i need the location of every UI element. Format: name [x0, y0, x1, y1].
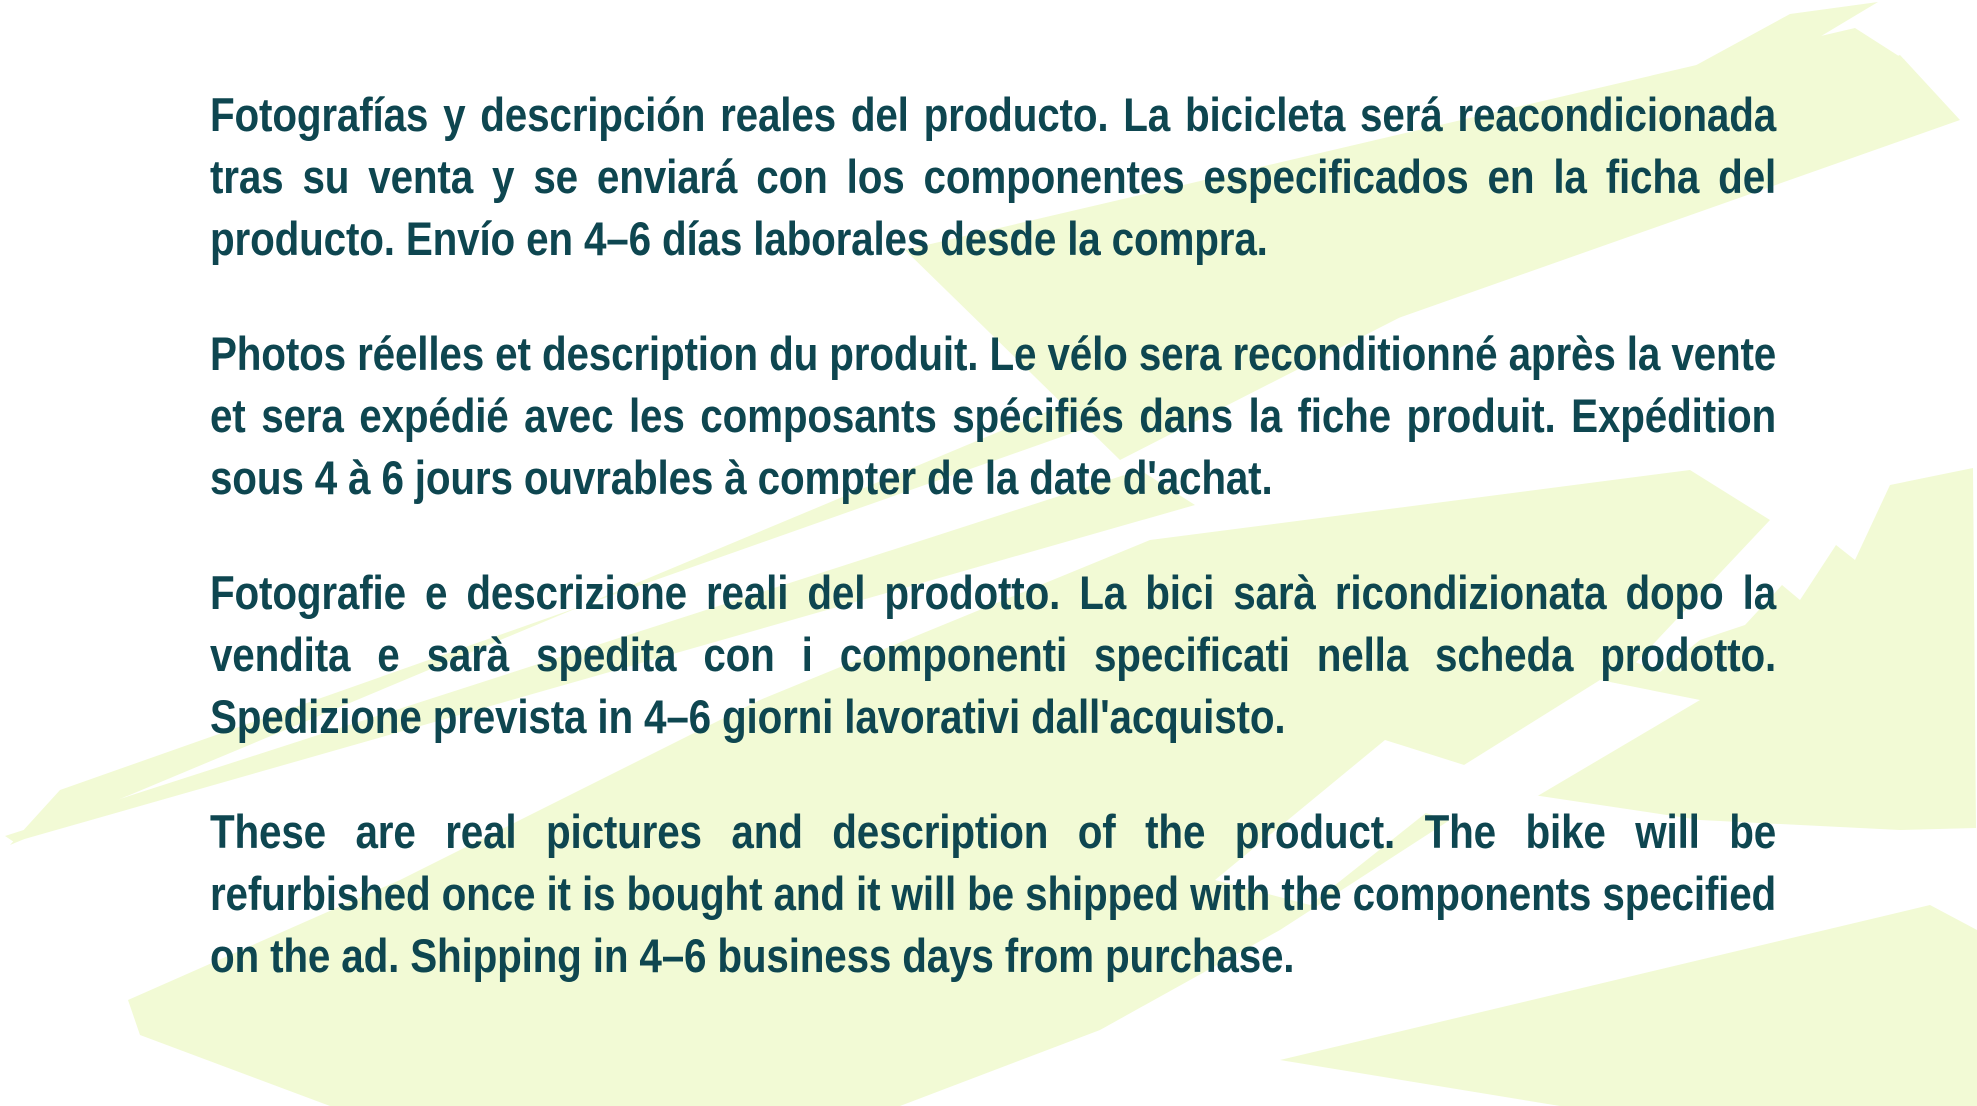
paragraph-italian: Fotografie e descrizione reali del prodo…: [210, 562, 1776, 748]
paragraph-english: These are real pictures and description …: [210, 801, 1776, 987]
paragraph-french: Photos réelles et description du produit…: [210, 323, 1776, 509]
paragraph-spanish: Fotografías y descripción reales del pro…: [210, 84, 1776, 270]
multilingual-description-text: Fotografías y descripción reales del pro…: [210, 84, 1776, 987]
slide-canvas: Fotografías y descripción reales del pro…: [0, 0, 1977, 1106]
